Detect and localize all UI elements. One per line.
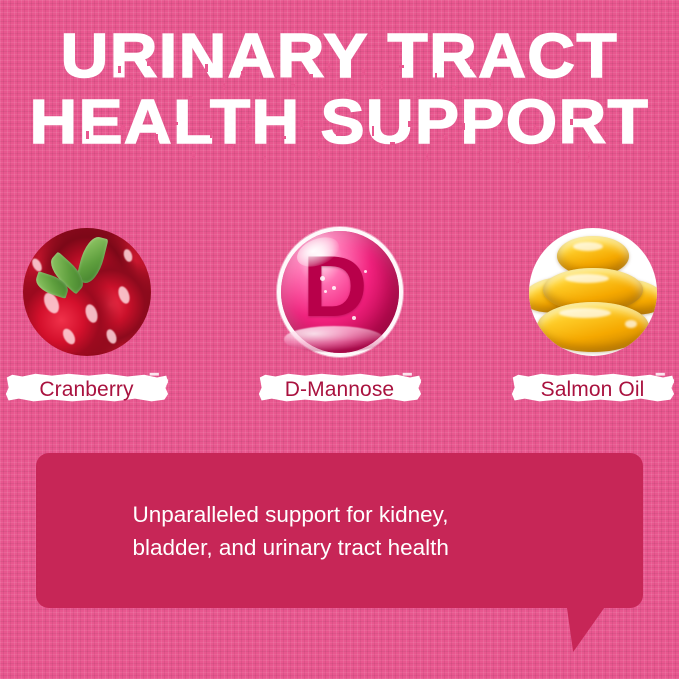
ingredient-salmon-oil[interactable]: Salmon Oil — [508, 228, 678, 407]
page-title: URINARY TRACT HEALTH SUPPORT — [0, 26, 679, 154]
d-mannose-label-banner: D-Mannose — [257, 371, 423, 407]
d-mannose-label: D-Mannose — [279, 379, 400, 400]
salmon-oil-label: Salmon Oil — [535, 379, 651, 400]
ingredient-cranberry[interactable]: Cranberry — [2, 228, 172, 407]
callout-text: Unparalleled support for kidney, bladder… — [133, 498, 553, 564]
ingredient-list: Cranberry D — [0, 228, 679, 407]
product-feature-poster: URINARY TRACT HEALTH SUPPORT — [0, 0, 679, 679]
cranberry-icon — [23, 228, 151, 356]
salmon-oil-label-banner: Salmon Oil — [510, 371, 676, 407]
callout-bubble: Unparalleled support for kidney, bladder… — [36, 453, 643, 608]
ingredient-d-mannose[interactable]: D D-Mannose — [255, 228, 425, 407]
callout-bubble-body: Unparalleled support for kidney, bladder… — [36, 453, 643, 608]
headline-line-2: HEALTH SUPPORT — [0, 92, 679, 154]
cranberry-label-banner: Cranberry — [4, 371, 170, 407]
salmon-oil-icon — [529, 228, 657, 356]
callout-line-2: bladder, and urinary tract health — [133, 531, 553, 564]
d-mannose-icon: D — [276, 228, 404, 356]
callout-bubble-tail — [567, 607, 611, 652]
cranberry-label: Cranberry — [33, 379, 139, 400]
callout-line-1: Unparalleled support for kidney, — [133, 498, 553, 531]
water-splash — [284, 326, 384, 352]
headline-line-1: URINARY TRACT — [0, 26, 679, 88]
